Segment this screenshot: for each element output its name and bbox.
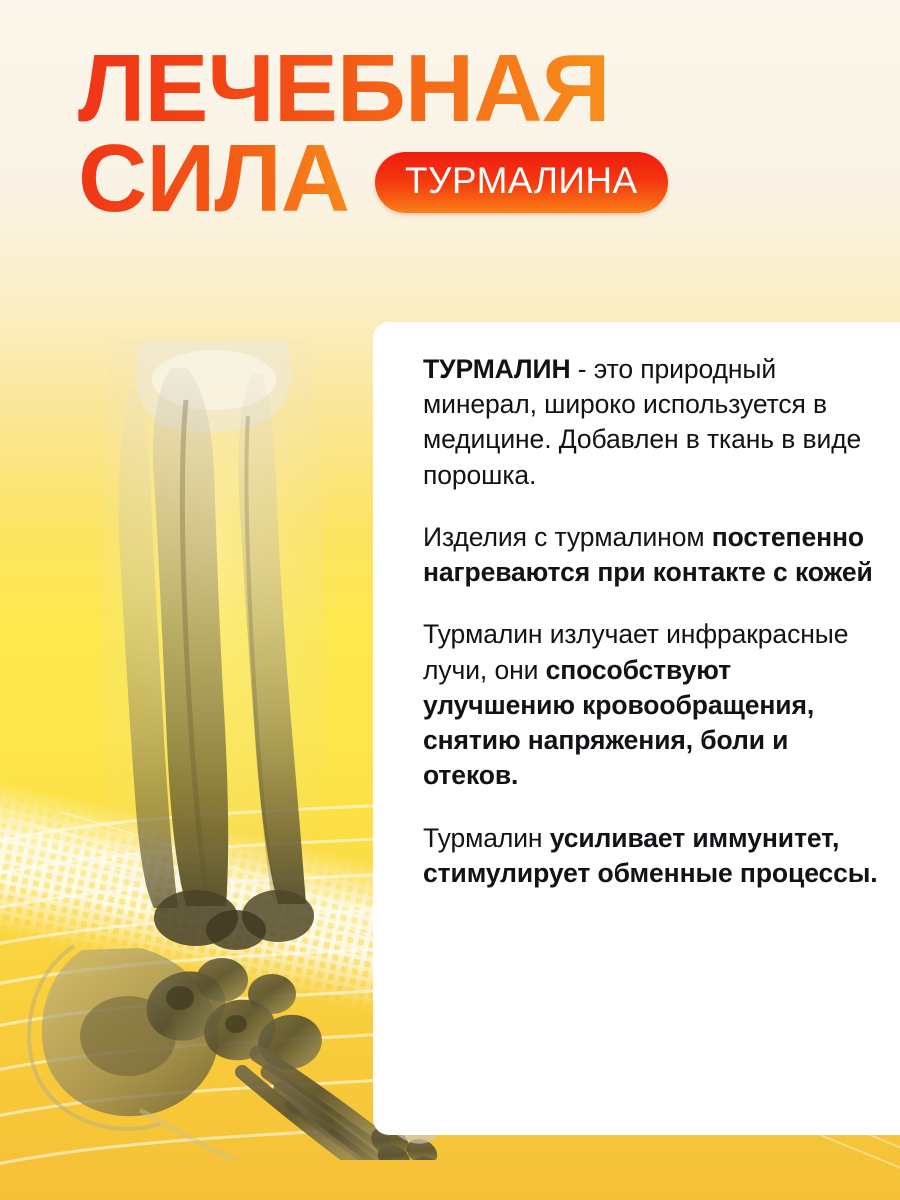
paragraph-immunity: Турмалин усиливает иммунитет, стимулируе…: [423, 821, 887, 891]
poster-root: ЛЕЧЕБНАЯ СИЛА ТУРМАЛИНА ТУРМАЛИН - это п…: [0, 0, 900, 1200]
definition-lead: ТУРМАЛИН: [423, 354, 571, 384]
immunity-normal: Турмалин: [423, 823, 550, 853]
heating-normal: Изделия с турмалином: [423, 522, 712, 552]
headline-word-sila: СИЛА: [78, 134, 349, 224]
headline-line-1: ЛЕЧЕБНАЯ: [78, 44, 838, 134]
paragraph-definition: ТУРМАЛИН - это природный минерал, широко…: [423, 352, 887, 493]
paragraph-heating: Изделия с турмалином постепенно нагреваю…: [423, 520, 887, 590]
headline-line-2: СИЛА ТУРМАЛИНА: [78, 134, 838, 224]
badge-turmalina: ТУРМАЛИНА: [375, 152, 668, 213]
headline-block: ЛЕЧЕБНАЯ СИЛА ТУРМАЛИНА: [78, 44, 838, 224]
info-card: ТУРМАЛИН - это природный минерал, широко…: [373, 322, 900, 1135]
headline-word-lechebnaya: ЛЕЧЕБНАЯ: [78, 44, 610, 134]
paragraph-infrared: Турмалин излучает инфракрасные лучи, они…: [423, 617, 887, 793]
